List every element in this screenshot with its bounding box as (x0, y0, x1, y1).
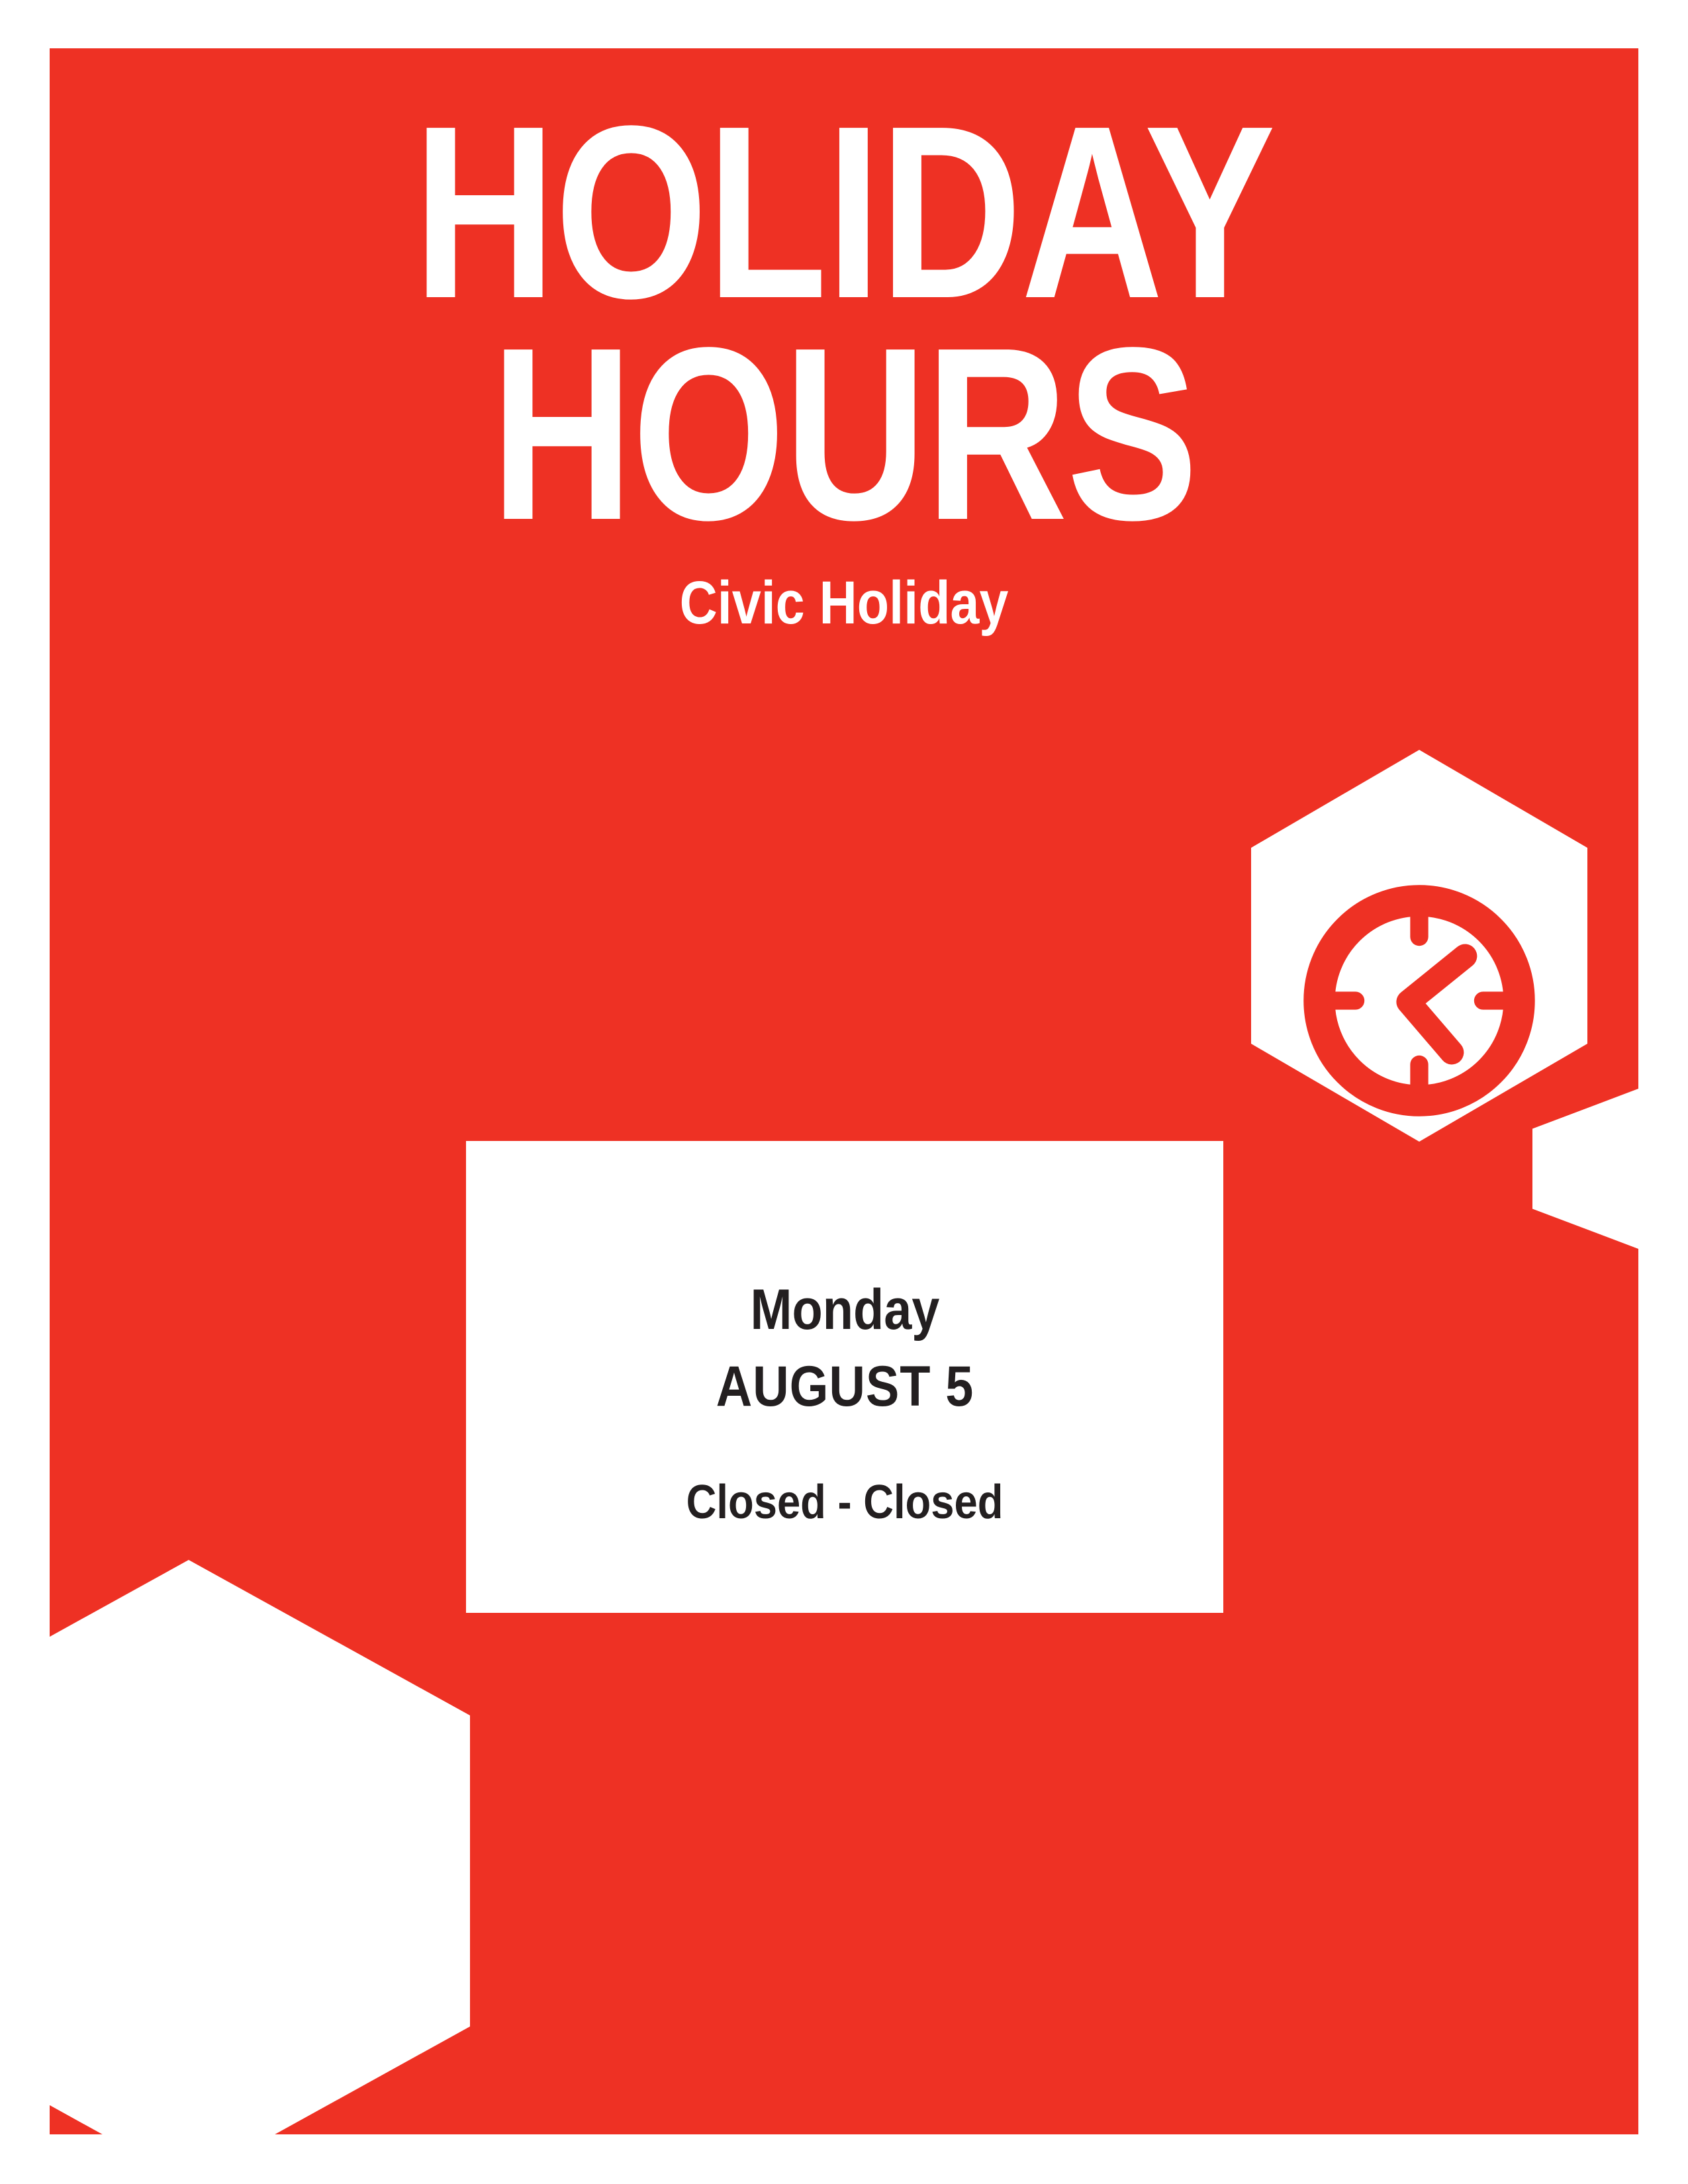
poster-subtitle: Civic Holiday (161, 572, 1527, 633)
holiday-date-label: AUGUST 5 (716, 1358, 974, 1415)
holiday-info-card: Monday AUGUST 5 Closed - Closed (466, 1141, 1223, 1613)
page-title-line-1: HOLIDAY (209, 101, 1479, 323)
hexagon-large-decoration (50, 1560, 470, 2134)
clock-icon (1299, 880, 1540, 1121)
holiday-day-label: Monday (750, 1281, 939, 1338)
poster-heading: HOLIDAY HOURS Civic Holiday (50, 48, 1638, 633)
page-title-line-2: HOURS (209, 323, 1479, 545)
poster-canvas: HOLIDAY HOURS Civic Holiday Monday AUGUS… (0, 0, 1688, 2184)
hexagon-small-decoration (1532, 1089, 1638, 1249)
red-background-panel: HOLIDAY HOURS Civic Holiday Monday AUGUS… (50, 48, 1638, 2134)
holiday-hours-label: Closed - Closed (686, 1479, 1004, 1526)
